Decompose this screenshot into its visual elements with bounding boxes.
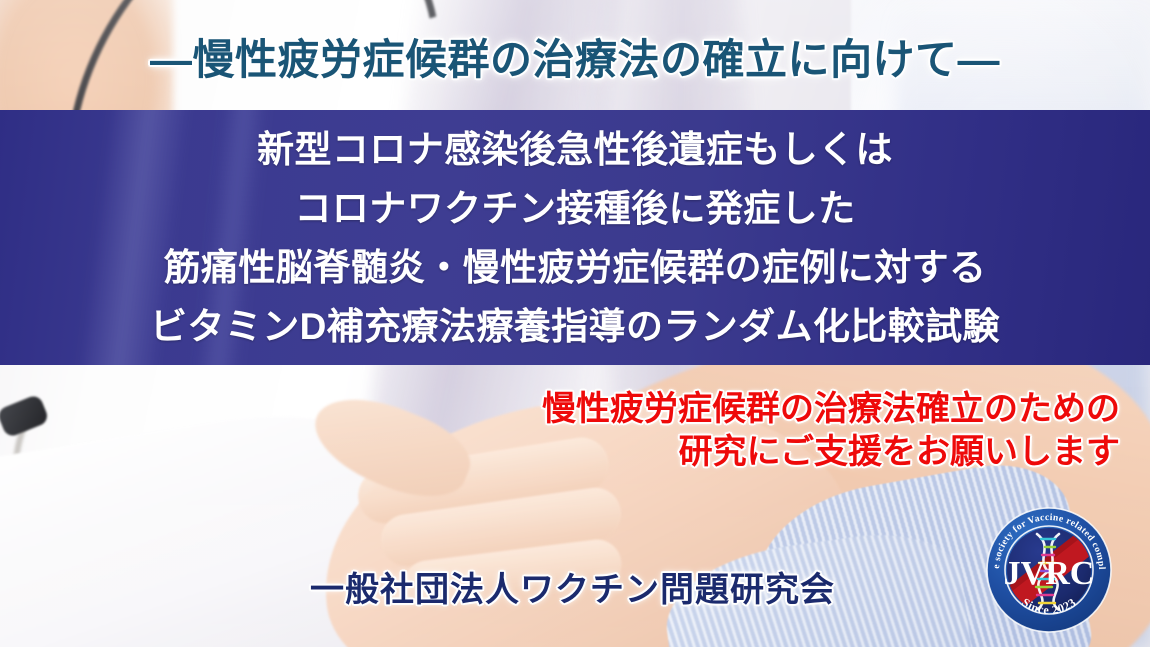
page-title: ―慢性疲労症候群の治療法の確立に向けて―: [0, 26, 1150, 87]
jvrc-logo: JVRC Japanese society for Vaccine relate…: [985, 506, 1113, 634]
study-title-lines: 新型コロナ感染後急性後遺症もしくは コロナワクチン接種後に発症した 筋痛性脳脊髄…: [0, 120, 1150, 356]
support-appeal: 慢性疲労症候群の治療法確立のための 研究にご支援をお願いします: [542, 388, 1120, 474]
study-title-line-3: 筋痛性脳脊髄炎・慢性疲労症候群の症例に対する: [0, 238, 1150, 297]
study-title-line-4: ビタミンD補充療法療養指導のランダム化比較試験: [0, 297, 1150, 356]
study-title-banner: 新型コロナ感染後急性後遺症もしくは コロナワクチン接種後に発症した 筋痛性脳脊髄…: [0, 110, 1150, 365]
poster-root: ―慢性疲労症候群の治療法の確立に向けて― 新型コロナ感染後急性後遺症もしくは コ…: [0, 0, 1150, 647]
study-title-line-2: コロナワクチン接種後に発症した: [0, 179, 1150, 238]
organization-name: 一般社団法人ワクチン問題研究会: [310, 562, 835, 611]
support-appeal-line-1: 慢性疲労症候群の治療法確立のための: [542, 388, 1120, 431]
support-appeal-line-2: 研究にご支援をお願いします: [542, 431, 1120, 474]
study-title-line-1: 新型コロナ感染後急性後遺症もしくは: [0, 120, 1150, 179]
logo-acronym: JVRC: [1004, 555, 1095, 592]
